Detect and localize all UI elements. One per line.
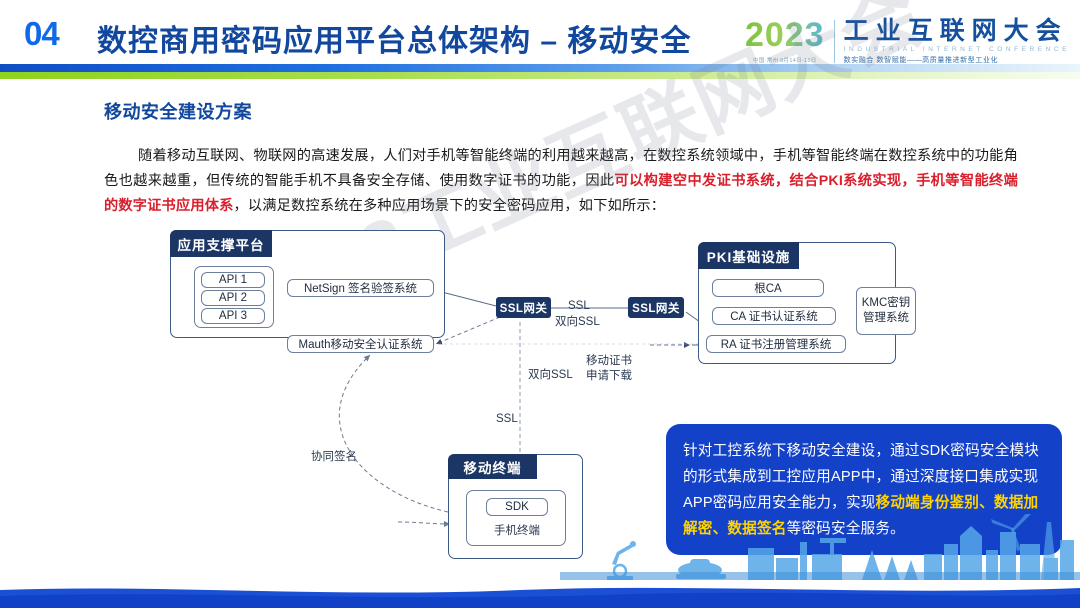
kmc-line-2: 管理系统 bbox=[863, 311, 909, 326]
kmc-line-1: KMC密钥 bbox=[862, 296, 911, 311]
api-item-2[interactable]: API 2 bbox=[201, 290, 265, 306]
pki-ca-system[interactable]: CA 证书认证系统 bbox=[712, 307, 836, 325]
wave-decoration bbox=[0, 582, 1080, 608]
logo-text-block: 工业互联网大会 INDUSTRIAL INTERNET CONFERENCE 数… bbox=[835, 18, 1070, 65]
mobile-terminal-title: 移动终端 bbox=[448, 454, 537, 479]
pki-panel-title: PKI基础设施 bbox=[698, 242, 799, 269]
city-skyline-decoration bbox=[0, 514, 1080, 586]
logo-year-block: 2023 中国·常州 8月14日-15日 bbox=[745, 18, 834, 64]
edge-label-cert-download-1: 移动证书 bbox=[586, 354, 632, 369]
api-item-1[interactable]: API 1 bbox=[201, 272, 265, 288]
logo-name-en: INDUSTRIAL INTERNET CONFERENCE bbox=[844, 46, 1070, 53]
section-heading: 移动安全建设方案 bbox=[104, 98, 252, 124]
ssl-gateway-right[interactable]: SSL网关 bbox=[628, 297, 684, 318]
pki-ra-system[interactable]: RA 证书注册管理系统 bbox=[706, 335, 846, 353]
edge-label-cosign: 协同签名 bbox=[311, 450, 357, 465]
mauth-system[interactable]: Mauth移动安全认证系统 bbox=[287, 335, 434, 353]
edge-label-mutual-ssl-top: 双向SSL bbox=[555, 315, 600, 330]
logo-name-cn: 工业互联网大会 bbox=[844, 18, 1070, 44]
slide-root: 04 数控商用密码应用平台总体架构 – 移动安全 2023 中国·常州 8月14… bbox=[0, 0, 1080, 608]
app-platform-title: 应用支撑平台 bbox=[170, 230, 272, 257]
logo-tagline: 数实融合 数智赋能——高质量推进新型工业化 bbox=[844, 55, 1070, 65]
netsign-system[interactable]: NetSign 签名验签系统 bbox=[287, 279, 434, 297]
section-number: 04 bbox=[24, 15, 59, 53]
edge-label-ssl-vertical: SSL bbox=[496, 412, 518, 427]
logo-year-subtitle: 中国·常州 8月14日-15日 bbox=[745, 56, 825, 64]
api-item-3[interactable]: API 3 bbox=[201, 308, 265, 324]
page-title: 数控商用密码应用平台总体架构 – 移动安全 bbox=[97, 16, 691, 60]
logo-year: 2023 bbox=[745, 18, 825, 52]
edge-label-ssl-top: SSL bbox=[568, 299, 590, 314]
ssl-gateway-left[interactable]: SSL网关 bbox=[496, 297, 551, 318]
pki-kmc-system[interactable]: KMC密钥 管理系统 bbox=[856, 287, 916, 335]
header-accent-bar-green bbox=[0, 72, 1080, 79]
section-paragraph: 随着移动互联网、物联网的高速发展，人们对手机等智能终端的利用越来越高，在数控系统… bbox=[104, 144, 1018, 219]
conference-logo: 2023 中国·常州 8月14日-15日 工业互联网大会 INDUSTRIAL … bbox=[745, 18, 1070, 65]
edge-label-cert-download-2: 申请下载 bbox=[586, 369, 632, 384]
edge-label-mutual-ssl-mid: 双向SSL bbox=[528, 368, 573, 383]
pki-root-ca[interactable]: 根CA bbox=[712, 279, 824, 297]
